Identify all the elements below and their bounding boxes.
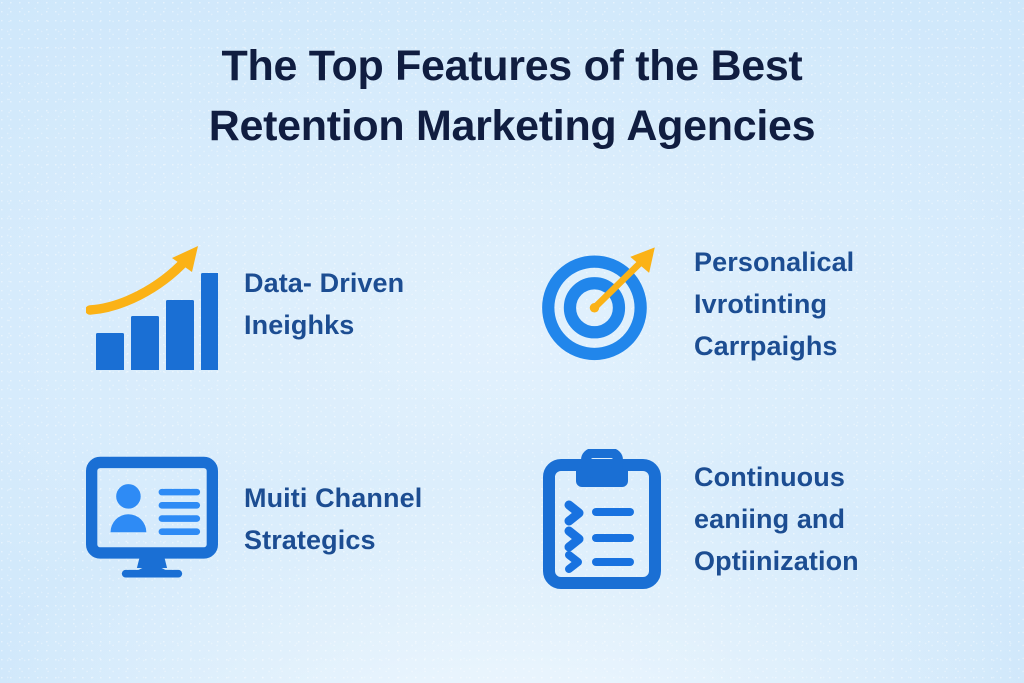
infographic-canvas: The Top Features of the Best Retention M… bbox=[0, 0, 1024, 683]
clipboard-checklist-icon bbox=[536, 453, 668, 585]
feature-label-line: Ivrotinting bbox=[694, 283, 854, 325]
feature-label-data-driven-insights: Data- Driven Ineighks bbox=[244, 262, 404, 346]
page-title-line-2: Retention Marketing Agencies bbox=[60, 96, 964, 156]
feature-label-line: Data- Driven bbox=[244, 262, 404, 304]
feature-label-line: eaniing and bbox=[694, 498, 859, 540]
feature-item-data-driven-insights: Data- Driven Ineighks bbox=[0, 196, 512, 411]
desktop-monitor-profile-icon bbox=[86, 453, 218, 585]
feature-label-multi-channel-strategies: Muiti Channel Strategics bbox=[244, 477, 422, 561]
feature-label-continuous-learning-optimization: Continuous eaniing and Optiinization bbox=[694, 456, 859, 582]
feature-label-line: Muiti Channel bbox=[244, 477, 422, 519]
feature-item-personalized-marketing-campaigns: Personalical Ivrotinting Carrpaighs bbox=[512, 196, 1024, 411]
page-title: The Top Features of the Best Retention M… bbox=[0, 36, 1024, 156]
feature-label-personalized-marketing-campaigns: Personalical Ivrotinting Carrpaighs bbox=[694, 241, 854, 367]
feature-item-multi-channel-strategies: Muiti Channel Strategics bbox=[0, 411, 512, 626]
feature-item-continuous-learning-optimization: Continuous eaniing and Optiinization bbox=[512, 411, 1024, 626]
bar-chart-growth-icon bbox=[86, 238, 218, 370]
feature-grid: Data- Driven Ineighks Personalical bbox=[0, 196, 1024, 626]
feature-label-line: Continuous bbox=[694, 456, 859, 498]
feature-label-line: Strategics bbox=[244, 519, 422, 561]
target-bullseye-arrow-icon bbox=[536, 238, 668, 370]
feature-label-line: Personalical bbox=[694, 241, 854, 283]
feature-label-line: Ineighks bbox=[244, 304, 404, 346]
page-title-line-1: The Top Features of the Best bbox=[60, 36, 964, 96]
feature-label-line: Carrpaighs bbox=[694, 325, 854, 367]
feature-label-line: Optiinization bbox=[694, 540, 859, 582]
